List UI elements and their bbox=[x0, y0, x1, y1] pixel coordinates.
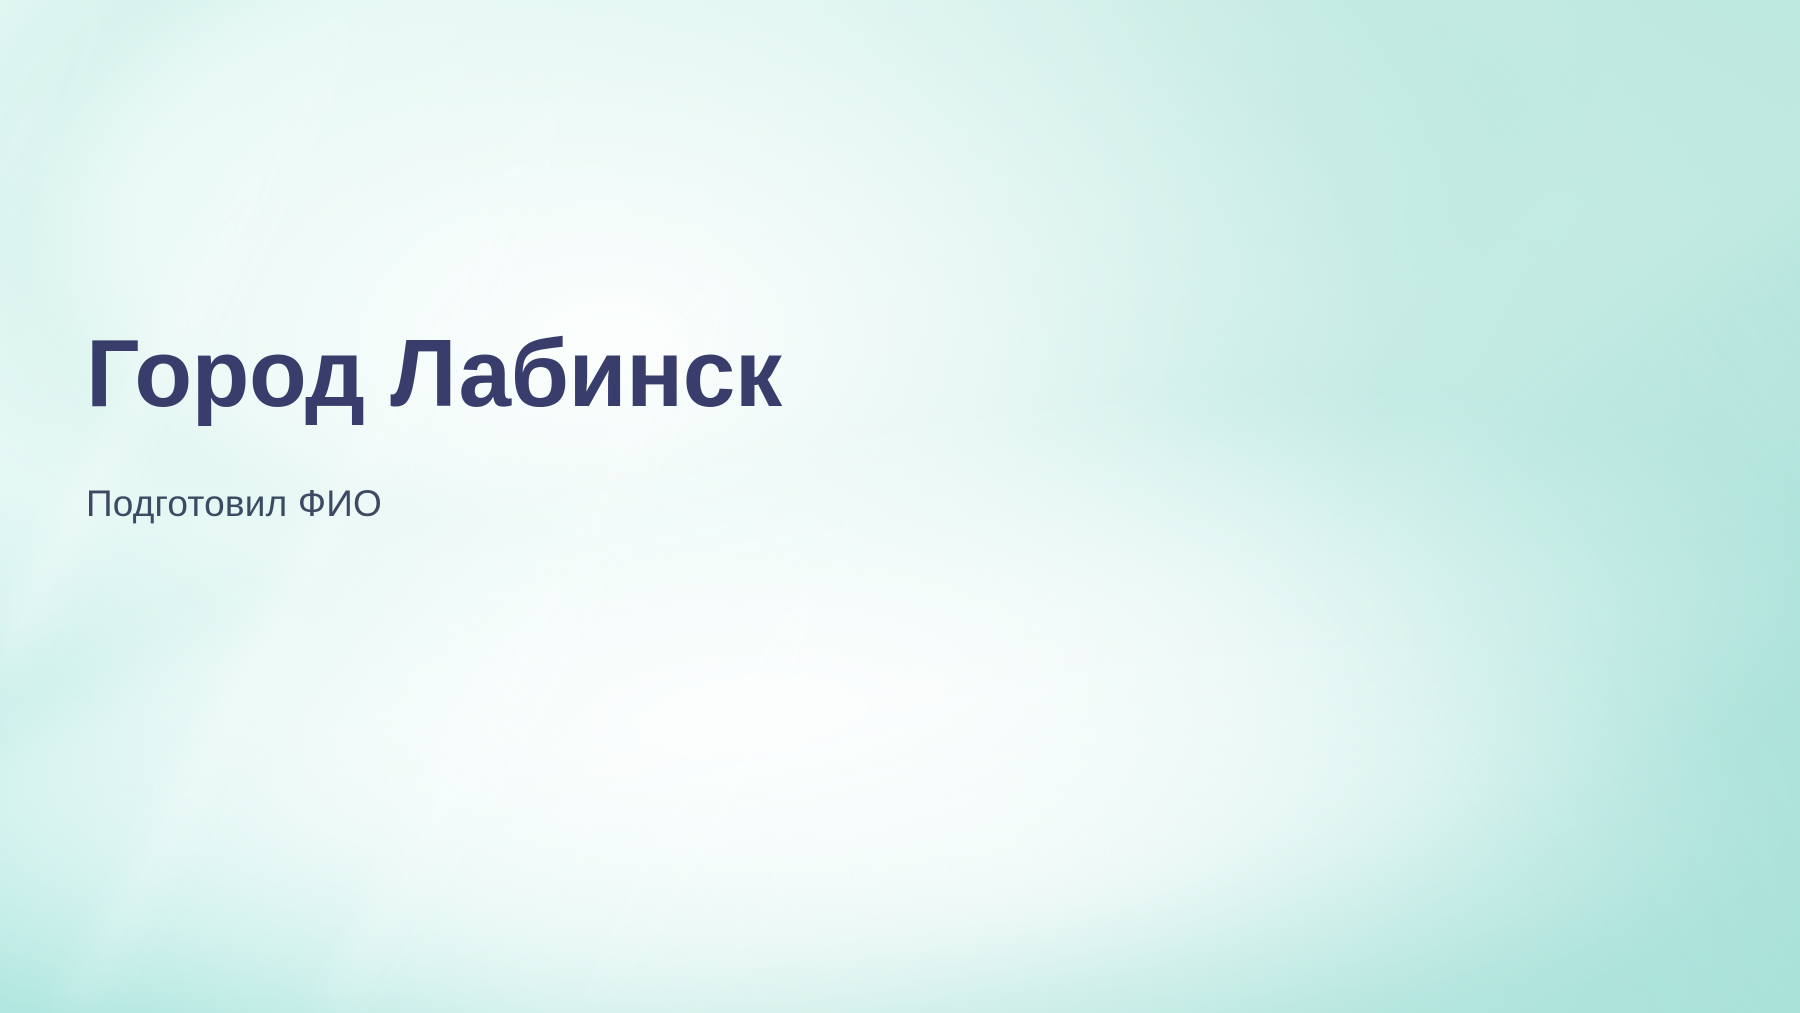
title-text-block: Город Лабинск Подготовил ФИО bbox=[86, 322, 1286, 526]
slide-title: Город Лабинск bbox=[86, 322, 1268, 426]
slide-subtitle: Подготовил ФИО bbox=[86, 426, 1286, 526]
title-slide: Город Лабинск Подготовил ФИО bbox=[0, 0, 1800, 1013]
